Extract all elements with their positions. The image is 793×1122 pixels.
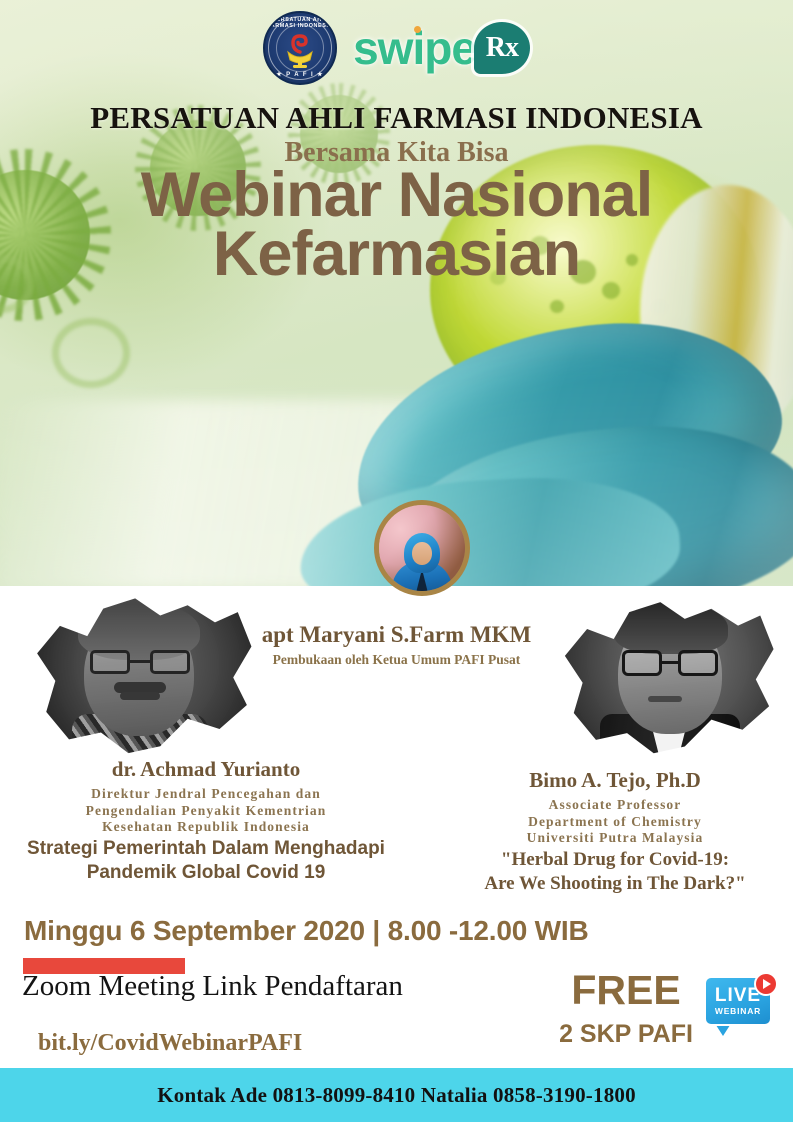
opening-speaker-role: Pembukaan oleh Ketua Umum PAFI Pusat [0, 652, 793, 668]
live-badge-line-2: WEBINAR [715, 1007, 761, 1016]
speaker-right-mouth [648, 696, 682, 702]
speaker-photo-right [556, 592, 778, 760]
speaker-left-affiliation-3: Kesehatan Republik Indonesia [0, 819, 412, 836]
price-label: FREE [556, 970, 696, 1011]
title-line-2: Kefarmasian [0, 225, 793, 284]
speaker-right-affiliation-3: Universiti Putra Malaysia [437, 830, 793, 847]
rx-speech-bubble-icon: Rx [474, 22, 530, 74]
speaker-right-affiliation-1: Associate Professor [437, 797, 793, 814]
contact-footer: Kontak Ade 0813-8099-8410 Natalia 0858-3… [0, 1068, 793, 1122]
hero-overlay-wash [0, 0, 793, 588]
speaker-left-name: dr. Achmad Yurianto [0, 757, 412, 782]
avatar-person [391, 533, 453, 595]
organization-title: PERSATUAN AHLI FARMASI INDONESIA [0, 100, 793, 136]
live-webinar-badge: LIVE WEBINAR [700, 972, 778, 1044]
brush-mask-right [556, 592, 778, 760]
rx-label: Rx [486, 32, 518, 64]
speaker-left-affiliation-1: Direktur Jendral Pencegahan dan [0, 786, 412, 803]
hero-background-image [0, 0, 793, 588]
pafi-logo: PERSATUAN AHLI FARMASI INDONESIA ★ P A F… [263, 11, 337, 85]
brush-mask-left [28, 588, 256, 760]
swiperx-logo: swipe Rx [353, 22, 530, 74]
speaker-left-topic-2: Pandemik Global Covid 19 [0, 863, 412, 884]
speaker-left-topic-1: Strategi Pemerintah Dalam Menghadapi [0, 839, 412, 860]
contact-text: Kontak Ade 0813-8099-8410 Natalia 0858-3… [157, 1083, 636, 1108]
credits-label: 2 SKP PAFI [556, 1020, 696, 1049]
speaker-block-left: dr. Achmad Yurianto Direktur Jendral Pen… [0, 757, 412, 884]
avatar-opening-speaker [374, 500, 470, 596]
speaker-right-topic-2: Are We Shooting in The Dark?" [437, 874, 793, 895]
bowl-of-hygieia-icon [278, 26, 322, 70]
registration-url[interactable]: bit.ly/CovidWebinarPAFI [38, 1030, 302, 1057]
speaker-left-affiliation-2: Pengendalian Penyakit Kementrian [0, 803, 412, 820]
speaker-left-mouth [120, 692, 160, 700]
speaker-photo-left [28, 588, 256, 760]
pafi-logo-arc-text: PERSATUAN AHLI FARMASI INDONESIA [265, 17, 335, 29]
event-datetime: Minggu 6 September 2020 | 8.00 -12.00 WI… [24, 915, 589, 947]
pafi-logo-caption: ★ P A F I ★ [265, 71, 335, 78]
avatar-face [412, 542, 432, 565]
webinar-poster: PERSATUAN AHLI FARMASI INDONESIA ★ P A F… [0, 0, 793, 1122]
play-triangle [763, 979, 771, 989]
opening-speaker-name: apt Maryani S.Farm MKM [0, 622, 793, 648]
registration-label: Zoom Meeting Link Pendaftaran [22, 970, 403, 1003]
speaker-right-name: Bimo A. Tejo, Ph.D [437, 768, 793, 793]
page-title: Webinar Nasional Kefarmasian [0, 166, 793, 283]
play-button-icon [754, 972, 778, 996]
speaker-block-right: Bimo A. Tejo, Ph.D Associate Professor D… [437, 768, 793, 895]
logo-row: PERSATUAN AHLI FARMASI INDONESIA ★ P A F… [0, 8, 793, 88]
speaker-right-topic-1: "Herbal Drug for Covid-19: [437, 850, 793, 871]
speaker-right-affiliation-2: Department of Chemistry [437, 814, 793, 831]
